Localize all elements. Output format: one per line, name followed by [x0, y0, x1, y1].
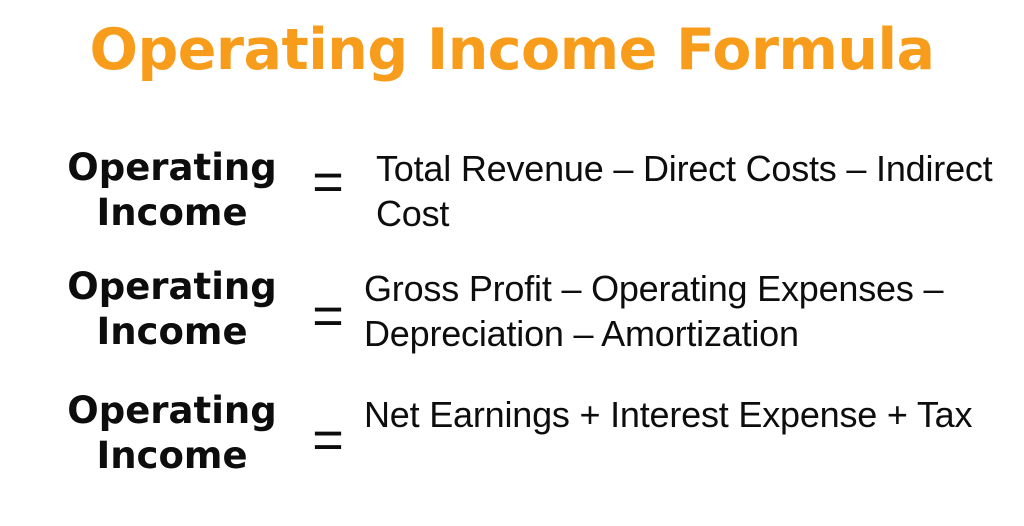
formula-right-expression: Total Revenue – Direct Costs – Indirect … — [376, 146, 996, 236]
formula-right-expression: Gross Profit – Operating Expenses – Depr… — [364, 266, 996, 356]
formula-left-term-line1: Operating — [52, 388, 292, 433]
formula-left-term-line2: Income — [52, 433, 292, 478]
formula-left-term-line2: Income — [52, 309, 292, 354]
formula-row: Operating Income = Gross Profit – Operat… — [0, 258, 1024, 380]
formula-left-term-line1: Operating — [52, 264, 292, 309]
formula-left-term: Operating Income — [52, 264, 292, 354]
formula-left-term: Operating Income — [52, 145, 292, 235]
equals-sign: = — [300, 136, 356, 228]
formula-row: Operating Income = Total Revenue – Direc… — [0, 136, 1024, 258]
formula-row: Operating Income = Net Earnings + Intere… — [0, 380, 1024, 502]
formula-right-expression: Net Earnings + Interest Expense + Tax — [364, 392, 996, 437]
equals-sign: = — [300, 394, 356, 486]
formula-list: Operating Income = Total Revenue – Direc… — [0, 136, 1024, 502]
page-title: Operating Income Formula — [0, 18, 1024, 82]
formula-left-term-line1: Operating — [52, 145, 292, 190]
equals-sign: = — [300, 270, 356, 362]
formula-left-term-line2: Income — [52, 190, 292, 235]
formula-left-term: Operating Income — [52, 388, 292, 478]
formula-infographic: Operating Income Formula Operating Incom… — [0, 0, 1024, 526]
